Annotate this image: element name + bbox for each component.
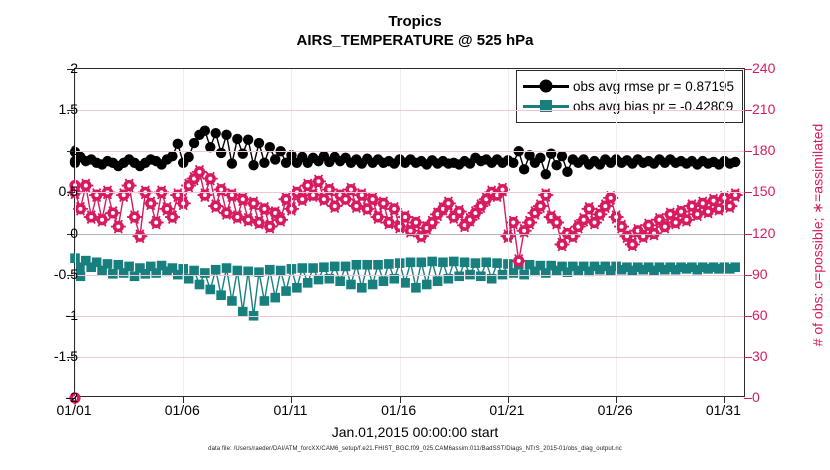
y-gridline (75, 192, 744, 193)
y-tick-label-right: 120 (752, 225, 775, 241)
page-title: Tropics (0, 12, 830, 31)
x-gridline (183, 69, 184, 396)
chart-root: Tropics AIRS_TEMPERATURE @ 525 hPa obs a… (0, 0, 830, 470)
circle-icon (540, 80, 553, 93)
y-gridline (75, 110, 744, 111)
y-tick-label-left: 2 (70, 60, 78, 76)
y-gridline (75, 234, 744, 235)
data-file-footnote: data file: /Users/raeder/DAI/ATM_forcXX/… (0, 446, 830, 452)
y-tick-right (744, 234, 752, 235)
plot-area: obs avg rmse pr = 0.87195 obs avg bias p… (74, 68, 745, 397)
y-tick-right (744, 151, 752, 152)
y-tick-right (744, 316, 752, 317)
x-gridline (400, 69, 401, 396)
x-tick-label: 01/21 (489, 402, 524, 418)
y-tick-label-left: -0.5 (54, 266, 78, 282)
y-gridline (75, 275, 744, 276)
y-gridline (75, 357, 744, 358)
x-gridline (291, 69, 292, 396)
y-tick-label-right: 240 (752, 60, 775, 76)
y-tick-label-left: 0.5 (59, 183, 78, 199)
x-gridline (724, 69, 725, 396)
y-tick-label-left: -1 (66, 307, 78, 323)
y-tick-label-right: 60 (752, 307, 768, 323)
legend-label-bias: obs avg bias pr = -0.42809 (573, 99, 733, 114)
x-gridline (508, 69, 509, 396)
legend-marker-rmse (523, 79, 569, 93)
y-tick-label-right: 90 (752, 266, 768, 282)
y-tick-label-left: 0 (70, 225, 78, 241)
x-tick-label: 01/01 (56, 402, 91, 418)
y-tick-label-right: 150 (752, 183, 775, 199)
y-tick-right (744, 192, 752, 193)
y-tick-right (744, 398, 752, 399)
y-tick-label-left: 1.5 (59, 101, 78, 117)
y-tick-right (744, 110, 752, 111)
y-tick-label-left: -1.5 (54, 348, 78, 364)
series-square (70, 253, 740, 320)
y-tick-right (744, 275, 752, 276)
x-tick-label: 01/31 (706, 402, 741, 418)
legend-item-rmse[interactable]: obs avg rmse pr = 0.87195 (523, 76, 734, 96)
chart-title-block: Tropics AIRS_TEMPERATURE @ 525 hPa (0, 12, 830, 51)
y-tick-label-right: 30 (752, 348, 768, 364)
legend-label-rmse: obs avg rmse pr = 0.87195 (573, 79, 734, 94)
x-axis-title: Jan.01,2015 00:00:00 start (0, 424, 830, 440)
y-tick-right (744, 357, 752, 358)
chart-subtitle: AIRS_TEMPERATURE @ 525 hPa (0, 31, 830, 51)
y-tick-label-right: 0 (752, 389, 760, 405)
x-gridline (616, 69, 617, 396)
y-axis-title-right: # of obs: o=possible; ∗=assimilated (810, 124, 827, 347)
y-tick-right (744, 69, 752, 70)
x-tick-label: 01/26 (598, 402, 633, 418)
y-tick-label-right: 180 (752, 142, 775, 158)
x-tick-label: 01/16 (381, 402, 416, 418)
y-tick-label-left: 1 (70, 142, 78, 158)
series-circle (70, 125, 741, 179)
x-tick-label: 01/11 (273, 402, 307, 418)
chart-legend: obs avg rmse pr = 0.87195 obs avg bias p… (516, 70, 743, 123)
y-tick-label-right: 210 (752, 101, 775, 117)
y-gridline (75, 316, 744, 317)
y-gridline (75, 151, 744, 152)
x-tick-label: 01/06 (165, 402, 200, 418)
legend-item-bias[interactable]: obs avg bias pr = -0.42809 (523, 96, 734, 116)
